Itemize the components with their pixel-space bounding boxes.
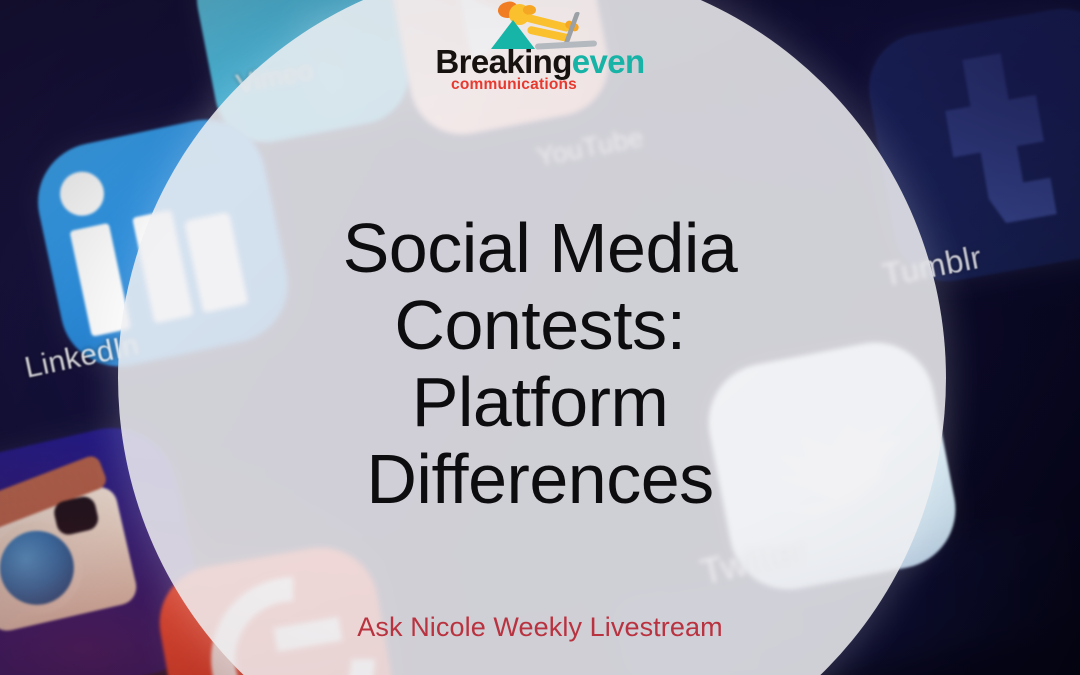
page-title: Social Media Contests: Platform Differen… [0, 210, 1080, 518]
subtitle: Ask Nicole Weekly Livestream [0, 612, 1080, 643]
content-layer: Breakingeven communications Social Media… [0, 0, 1080, 675]
title-line-2: Contests: [0, 287, 1080, 364]
title-line-4: Differences [0, 441, 1080, 518]
logo-figure-body [491, 20, 535, 49]
brand-wordmark-accent: even [572, 43, 645, 80]
title-line-1: Social Media [0, 210, 1080, 287]
brand-logo: Breakingeven communications [0, 4, 1080, 94]
person-typing-on-laptop-icon [465, 4, 615, 48]
title-line-3: Platform [0, 364, 1080, 441]
promo-graphic: Vimeo YouTube LinkedIn Tumblr Twitter [0, 0, 1080, 675]
brand-tagline: communications [451, 76, 577, 94]
brand-wordmark: Breakingeven [435, 45, 644, 78]
